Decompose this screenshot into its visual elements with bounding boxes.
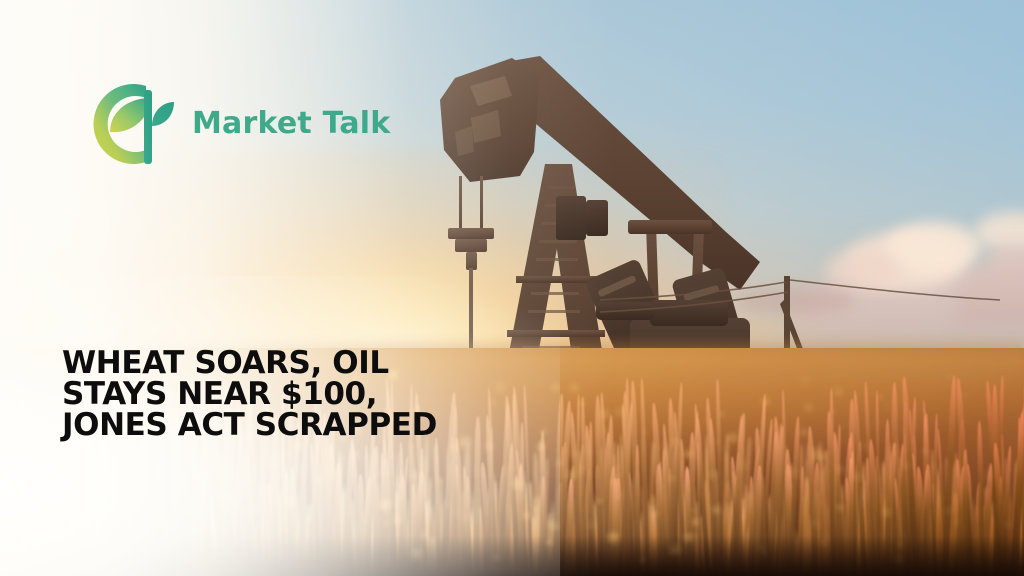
headline-line-2: STAYS NEAR $100, bbox=[62, 379, 532, 410]
brand-logo[interactable]: Market Talk bbox=[72, 72, 390, 176]
headline: WHEAT SOARS, OIL STAYS NEAR $100, JONES … bbox=[62, 348, 532, 441]
headline-line-1: WHEAT SOARS, OIL bbox=[62, 348, 532, 379]
market-talk-banner: Market Talk WHEAT SOARS, OIL STAYS NEAR … bbox=[0, 0, 1024, 576]
brand-name: Market Talk bbox=[192, 109, 390, 139]
headline-line-3: JONES ACT SCRAPPED bbox=[62, 410, 532, 441]
leaf-sprout-circle-icon bbox=[72, 72, 176, 176]
